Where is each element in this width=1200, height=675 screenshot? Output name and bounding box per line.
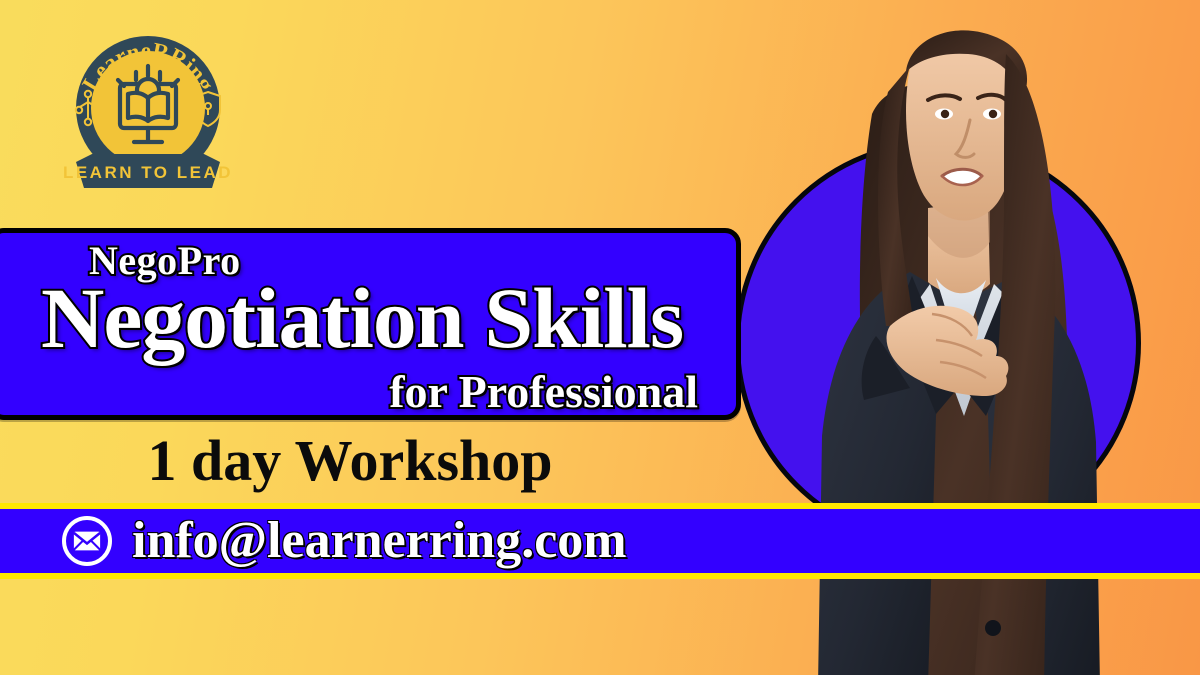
envelope-icon — [62, 516, 112, 566]
promo-banner: LearneRRing — [0, 0, 1200, 675]
subhead-text: for Professional — [389, 369, 698, 415]
contact-email[interactable]: info@learnerring.com — [132, 515, 627, 567]
svg-text:LEARN TO LEAD: LEARN TO LEAD — [63, 163, 233, 182]
title-panel: NegoPro Negotiation Skills for Professio… — [0, 228, 741, 420]
brand-logo: LearneRRing — [62, 28, 234, 200]
workshop-duration-text: 1 day Workshop — [0, 432, 700, 490]
contact-bar-content: info@learnerring.com — [0, 503, 700, 579]
headline-text: Negotiation Skills — [41, 275, 683, 361]
logo-badge-icon: LearneRRing — [62, 28, 234, 200]
envelope-glyph — [72, 526, 102, 556]
